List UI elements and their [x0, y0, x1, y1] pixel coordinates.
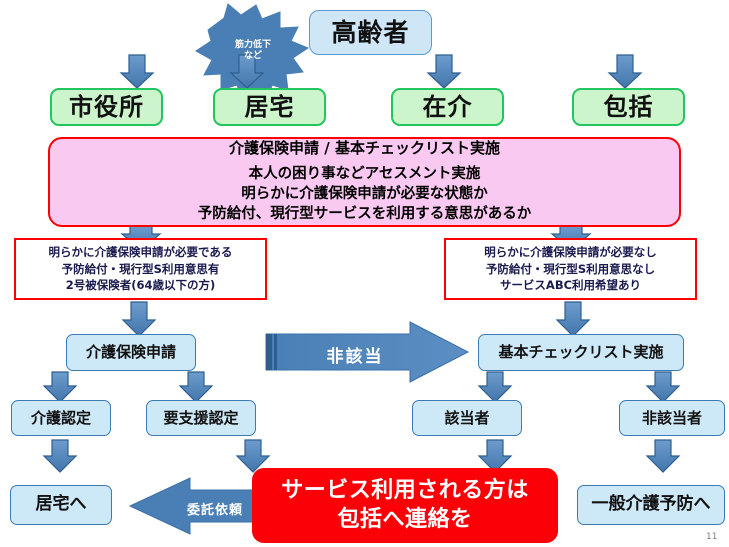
callout-line-2: 包括へ連絡を [337, 506, 472, 534]
arrow-down-houkatsu [609, 55, 641, 88]
starburst-line-2: など [224, 51, 282, 62]
criteria-right-line-3: サービスABC利用希望あり [500, 277, 641, 294]
arrow-down-shiyakusho [121, 55, 153, 88]
arrow-down-zaikai [428, 55, 460, 88]
node-entry-kyotaku[interactable]: 居宅 [213, 88, 326, 126]
node-kihon-checklist[interactable]: 基本チェックリスト実施 [478, 334, 684, 371]
starburst-line-1: 筋力低下 [224, 40, 282, 51]
criteria-right-line-1: 明らかに介護保険申請が必要なし [484, 244, 657, 261]
arrow-to-ippan-yobou [647, 440, 679, 472]
node-elderly-title: 高齢者 [309, 10, 432, 55]
criteria-left-line-3: 2号被保険者(64歳以下の方) [66, 277, 216, 294]
arrow-to-yoshien-nintei [180, 372, 212, 402]
node-ippan-kaigo-yobou-e[interactable]: 一般介護予防へ [577, 485, 725, 525]
arrow-to-gaitousha [479, 372, 511, 402]
node-yoshien-nintei[interactable]: 要支援認定 [146, 400, 256, 436]
criteria-left-line-1: 明らかに介護保険申請が必要である [49, 244, 233, 261]
page-number: 11 [706, 532, 717, 542]
node-assessment-box: 介護保険申請 / 基本チェックリスト実施 本人の困り事などアセスメント実施 明ら… [48, 137, 681, 227]
node-entry-shiyakusho[interactable]: 市役所 [50, 88, 163, 126]
node-entry-houkatsu[interactable]: 包括 [572, 88, 685, 126]
node-kaigo-hoken-shinsei[interactable]: 介護保険申請 [66, 334, 196, 371]
node-criteria-right: 明らかに介護保険申請が必要なし 予防給付・現行型S利用意思なし サービスABC利… [444, 238, 697, 300]
node-gaitousha[interactable]: 該当者 [412, 400, 522, 436]
arrow-to-checklist [557, 302, 589, 336]
arrow-label-hitougai: 非該当 [310, 342, 400, 367]
arrow-to-kaigo-shinsei [123, 302, 155, 336]
criteria-left-line-2: 予防給付・現行型S利用意思有 [62, 261, 220, 278]
starburst-label: 筋力低下 など [224, 40, 282, 63]
callout-line-1: サービス利用される方は [281, 477, 529, 505]
node-callout-contact-houkatsu: サービス利用される方は 包括へ連絡を [252, 468, 558, 543]
arrow-to-kyotaku-e [44, 440, 76, 472]
criteria-right-line-2: 予防給付・現行型S利用意思なし [486, 261, 655, 278]
node-higaitousha[interactable]: 非該当者 [619, 400, 725, 436]
arrow-to-higaitousha [647, 372, 679, 402]
assessment-line-2: 明らかに介護保険申請が必要な状態か [241, 185, 488, 203]
assessment-line-3: 予防給付、現行型サービスを利用する意思があるか [198, 205, 532, 223]
node-criteria-left: 明らかに介護保険申請が必要である 予防給付・現行型S利用意思有 2号被保険者(6… [14, 238, 267, 300]
node-entry-zaikai[interactable]: 在介 [391, 88, 504, 126]
arrow-to-kaigo-nintei [44, 372, 76, 402]
assessment-heading: 介護保険申請 / 基本チェックリスト実施 [229, 139, 500, 158]
node-kyotaku-e[interactable]: 居宅へ [10, 485, 112, 525]
slide-canvas: 筋力低下 など 高齢者 市役所 居宅 在介 包括 介護保険申請 / 基本チェック… [0, 0, 729, 547]
node-kaigo-nintei[interactable]: 介護認定 [11, 400, 111, 436]
assessment-line-1: 本人の困り事などアセスメント実施 [249, 165, 481, 183]
arrow-label-itaku-irai: 委託依頼 [179, 499, 251, 518]
